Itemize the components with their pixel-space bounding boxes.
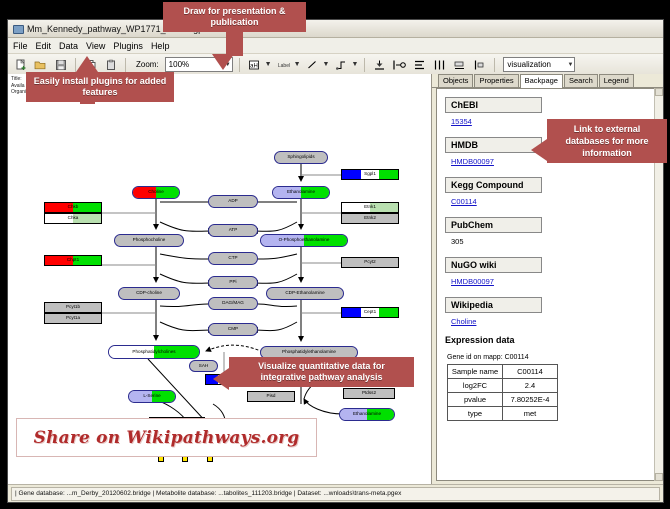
text-label-icon[interactable]: aH xyxy=(246,56,263,73)
metabolite-node-adp[interactable]: ADP xyxy=(208,195,258,208)
scroll-down-icon[interactable] xyxy=(655,473,663,481)
tab-objects[interactable]: Objects xyxy=(438,74,473,87)
label-tool-group: Label ▼ xyxy=(275,56,301,73)
menu-item-plugins[interactable]: Plugins xyxy=(113,41,143,51)
node-label: Pcyt1a xyxy=(66,316,80,321)
metabolite-node-ethanolamine-top[interactable]: Ethanolamine xyxy=(272,186,330,199)
pathvisio-icon xyxy=(12,23,23,34)
gene-node-pcyt1b[interactable]: Pcyt1b xyxy=(44,302,102,313)
database-link[interactable]: C00114 xyxy=(451,197,646,206)
expression-value: met xyxy=(503,407,558,421)
database-name-header: Kegg Compound xyxy=(445,177,542,193)
chevron-down-icon[interactable]: ▼ xyxy=(265,61,272,68)
metabolite-node-cdp-choline[interactable]: CDP-choline xyxy=(118,287,180,300)
metabolite-node-dagmag[interactable]: DAG/MAG xyxy=(208,297,258,310)
new-file-icon[interactable] xyxy=(12,56,29,73)
node-label: Sgpl1 xyxy=(364,172,376,177)
callout-draw-arrow xyxy=(212,54,234,70)
tab-properties[interactable]: Properties xyxy=(474,74,518,87)
node-label: Choline xyxy=(148,190,164,195)
menu-item-view[interactable]: View xyxy=(86,41,105,51)
menu-item-edit[interactable]: Edit xyxy=(36,41,52,51)
visualization-combobox[interactable]: visualization ▼ xyxy=(503,57,575,72)
metabolite-node-l-serine-left[interactable]: L-Serine xyxy=(128,390,176,403)
toolbar-separator xyxy=(239,58,240,72)
metabolite-node-phosphatidylcholines[interactable]: Phosphatidylcholines xyxy=(108,345,200,359)
database-link[interactable]: HMDB00097 xyxy=(451,277,646,286)
node-label: Chpt1 xyxy=(67,258,79,263)
chevron-down-icon[interactable]: ▼ xyxy=(323,61,330,68)
metabolite-node-atp[interactable]: ATP xyxy=(208,224,258,237)
menu-item-help[interactable]: Help xyxy=(151,41,170,51)
visualization-value: visualization xyxy=(507,60,551,69)
line-tool-icon[interactable] xyxy=(304,56,321,73)
database-name-header: PubChem xyxy=(445,217,542,233)
expression-table: Sample nameC00114log2FC2.4pvalue7.80252E… xyxy=(447,364,558,421)
zoom-label: Zoom: xyxy=(136,60,159,69)
node-label: Chka xyxy=(68,216,79,221)
node-label: Cept1 xyxy=(364,310,376,315)
database-name-header: ChEBI xyxy=(445,97,542,113)
expression-data-heading: Expression data xyxy=(445,335,646,345)
node-label: Ethanolamine xyxy=(287,190,315,195)
gene-node-chkb[interactable]: Chkb xyxy=(44,202,102,213)
gene-node-ptdss2[interactable]: Ptdss2 xyxy=(343,388,395,399)
node-label: Sphingolipids xyxy=(287,155,314,160)
gene-node-cept1[interactable]: Cept1 xyxy=(341,307,399,318)
table-row: Sample nameC00114 xyxy=(448,365,558,379)
gene-id-on-mapp: Gene id on mapp: C00114 xyxy=(447,354,646,361)
line-tool-group: ▼ xyxy=(304,56,330,73)
database-name-header: Wikipedia xyxy=(445,297,542,313)
open-folder-icon[interactable] xyxy=(32,56,49,73)
node-label: CDP-Ethanolamine xyxy=(285,291,324,296)
menu-item-file[interactable]: File xyxy=(13,41,28,51)
gene-node-pcyt2[interactable]: Pcyt2 xyxy=(341,257,399,268)
node-label: Pisd xyxy=(267,394,276,399)
connector-tool-group: ▼ xyxy=(332,56,358,73)
node-label: Chkb xyxy=(68,205,79,210)
expression-key: pvalue xyxy=(448,393,503,407)
menu-item-data[interactable]: Data xyxy=(59,41,78,51)
menubar: File Edit Data View Plugins Help xyxy=(8,38,663,54)
label-tool-icon[interactable]: Label xyxy=(275,56,292,73)
table-row: log2FC2.4 xyxy=(448,379,558,393)
paste-icon[interactable] xyxy=(102,56,119,73)
node-label: Phosphatidylethanolamine xyxy=(282,350,336,355)
node-label: L-Serine xyxy=(143,394,160,399)
node-label: Ethanolamine xyxy=(353,412,381,417)
metabolite-node-cdp-ethanolamine[interactable]: CDP-Ethanolamine xyxy=(266,287,344,300)
metabolite-node-cmp[interactable]: CMP xyxy=(208,323,258,336)
toolbar-separator xyxy=(494,58,495,72)
svg-text:Label: Label xyxy=(277,63,289,69)
gene-node-pisd[interactable]: Pisd xyxy=(247,391,295,402)
toolbar-separator xyxy=(125,58,126,72)
gene-node-etnk1[interactable]: Etnk1 xyxy=(341,202,399,213)
node-label: O-Phosphoethanolamine xyxy=(279,238,330,243)
node-label: DAG/MAG xyxy=(222,301,244,306)
expression-key: type xyxy=(448,407,503,421)
node-label: Pcyt2 xyxy=(364,260,376,265)
status-bar: | Gene database: ...m_Derby_20120602.bri… xyxy=(8,484,663,502)
gene-node-chpt1[interactable]: Chpt1 xyxy=(44,255,102,266)
callout-external-links-arrow xyxy=(531,139,547,161)
connector-tool-icon[interactable] xyxy=(332,56,349,73)
expression-value: 7.80252E-4 xyxy=(503,393,558,407)
gene-node-pcyt1a[interactable]: Pcyt1a xyxy=(44,313,102,324)
expression-value: C00114 xyxy=(503,365,558,379)
toolbar-separator xyxy=(364,58,365,72)
tab-backpage[interactable]: Backpage xyxy=(520,74,563,88)
node-label: Etnk2 xyxy=(364,216,376,221)
callout-draw: Draw for presentation & publication xyxy=(163,2,306,32)
node-label: CDP-choline xyxy=(136,291,162,296)
node-label: Ptdss2 xyxy=(362,391,376,396)
table-row: pvalue7.80252E-4 xyxy=(448,393,558,407)
window-titlebar: Mm_Kennedy_pathway_WP1771_45176.gpml xyxy=(8,20,663,38)
align-left-icon[interactable] xyxy=(391,56,408,73)
tab-search[interactable]: Search xyxy=(564,74,598,87)
chevron-down-icon[interactable]: ▼ xyxy=(294,61,301,68)
save-icon[interactable] xyxy=(52,56,69,73)
text-tool-group: aH ▼ xyxy=(246,56,272,73)
chevron-down-icon[interactable]: ▼ xyxy=(351,61,358,68)
node-label: CMP xyxy=(228,327,238,332)
callout-draw-stem2 xyxy=(226,36,243,56)
metabolite-node-ctp[interactable]: CTP xyxy=(208,252,258,265)
chevron-down-icon: ▼ xyxy=(567,62,573,68)
align-top-icon[interactable] xyxy=(371,56,388,73)
expression-key: Sample name xyxy=(448,365,503,379)
share-banner: Share on Wikipathways.org xyxy=(16,418,317,457)
scroll-up-icon[interactable] xyxy=(655,88,663,96)
node-label: Phosphatidylcholines xyxy=(132,350,175,355)
gene-node-etnk2[interactable]: Etnk2 xyxy=(341,213,399,224)
metabolite-node-phosphocholine[interactable]: Phosphocholine xyxy=(114,234,184,247)
distribute-horizontal-icon[interactable] xyxy=(431,56,448,73)
status-bar-text: | Gene database: ...m_Derby_20120602.bri… xyxy=(15,490,401,497)
table-row: typemet xyxy=(448,407,558,421)
callout-visualize: Visualize quantitative data for integrat… xyxy=(229,357,414,387)
database-link[interactable]: Choline xyxy=(451,317,646,326)
metabolite-node-ethanolamine-bottom[interactable]: Ethanolamine xyxy=(339,408,395,421)
screenshot-root: Mm_Kennedy_pathway_WP1771_45176.gpml Fil… xyxy=(0,0,670,509)
svg-text:aH: aH xyxy=(250,63,258,69)
node-label: Etnk1 xyxy=(364,205,376,210)
ungroup-icon[interactable] xyxy=(471,56,488,73)
node-label: SAH xyxy=(199,364,208,369)
expression-value: 2.4 xyxy=(503,379,558,393)
callout-plugins: Easily install plugins for added feature… xyxy=(26,72,174,102)
metabolite-node-choline-top[interactable]: Choline xyxy=(132,186,180,199)
side-panel-tabs: Objects Properties Backpage Search Legen… xyxy=(432,74,663,88)
callout-visualize-arrow xyxy=(213,368,229,390)
distribute-vertical-icon[interactable] xyxy=(411,56,428,73)
share-banner-text: Share on Wikipathways.org xyxy=(34,428,300,448)
metabolite-node-sphingolipids[interactable]: Sphingolipids xyxy=(274,151,328,164)
group-icon[interactable] xyxy=(451,56,468,73)
database-value: 305 xyxy=(451,237,646,246)
gene-node-chka[interactable]: Chka xyxy=(44,213,102,224)
callout-external-links: Link to external databases for more info… xyxy=(547,119,667,163)
metabolite-node-ppi[interactable]: PPi xyxy=(208,276,258,289)
tab-legend[interactable]: Legend xyxy=(599,74,634,87)
node-label: ADP xyxy=(228,199,237,204)
zoom-value: 100% xyxy=(169,60,189,69)
expression-key: log2FC xyxy=(448,379,503,393)
gene-node-sgpl1[interactable]: Sgpl1 xyxy=(341,169,399,180)
node-label: PPi xyxy=(229,280,236,285)
database-name-header: NuGO wiki xyxy=(445,257,542,273)
node-label: ATP xyxy=(229,228,238,233)
database-name-header: HMDB xyxy=(445,137,542,153)
node-label: CTP xyxy=(228,256,237,261)
node-label: Pcyt1b xyxy=(66,305,80,310)
metabolite-node-o-phosphoethanolamine[interactable]: O-Phosphoethanolamine xyxy=(260,234,348,247)
node-label: Phosphocholine xyxy=(133,238,166,243)
